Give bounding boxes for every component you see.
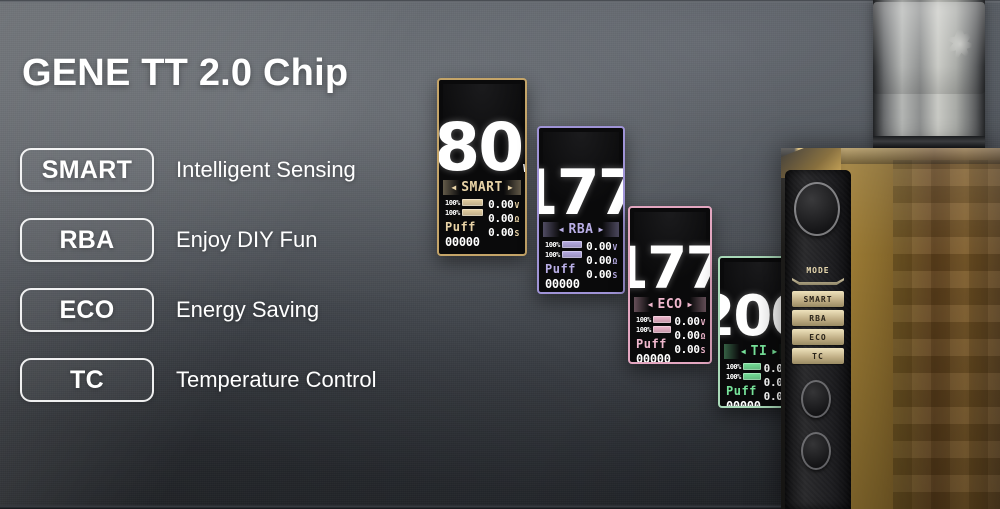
mode-label-bar: ◀SMART▶ xyxy=(443,180,521,195)
device-illustration: MODE SMARTRBAECOTC xyxy=(765,0,1000,509)
mode-label: SMART xyxy=(461,180,503,195)
primary-value: 177 xyxy=(628,244,712,294)
mode-menu-items: SMARTRBAECOTC xyxy=(792,288,844,364)
battery-bar xyxy=(653,316,672,323)
fire-button[interactable] xyxy=(794,182,840,236)
feature-list: SMARTIntelligent SensingRBAEnjoy DIY Fun… xyxy=(20,148,440,428)
puff-label: Puff xyxy=(545,262,582,276)
reading-line: 0.00S xyxy=(488,226,519,239)
reading-line: 0.00V xyxy=(488,198,519,211)
reading-value: 0.00 xyxy=(488,226,513,239)
screen-preview-rba: 177W◀RBA▶100%100%Puff000000.00V0.00Ω0.00… xyxy=(537,126,625,294)
readout-area: 100%100%Puff000000.00V0.00Ω0.00S xyxy=(443,197,521,249)
battery-bar xyxy=(743,363,761,370)
battery-percent: 100% xyxy=(726,373,741,381)
next-mode-arrow[interactable]: ▶ xyxy=(688,301,693,309)
reading-line: 0.00Ω xyxy=(674,329,705,342)
feature-description: Intelligent Sensing xyxy=(176,157,356,183)
reading-unit: S xyxy=(701,346,706,355)
mode-label: RBA xyxy=(569,222,594,237)
mode-menu-item-tc[interactable]: TC xyxy=(792,348,844,364)
primary-value-area: 80W xyxy=(443,84,521,177)
mode-menu-divider xyxy=(792,278,844,285)
battery-percent: 100% xyxy=(636,326,651,334)
primary-value: 177 xyxy=(537,166,625,219)
feature-row: ECOEnergy Saving xyxy=(20,288,440,332)
battery-percent: 100% xyxy=(445,209,460,217)
reading-unit: Ω xyxy=(514,215,519,224)
battery-bar xyxy=(462,209,484,216)
battery-row: 100% xyxy=(636,325,671,334)
feature-description: Temperature Control xyxy=(176,367,377,393)
next-mode-arrow[interactable]: ▶ xyxy=(599,226,604,234)
battery-percent: 100% xyxy=(545,241,560,249)
battery-bar xyxy=(562,241,583,248)
feature-description: Energy Saving xyxy=(176,297,319,323)
readout-area: 100%100%Puff000000.00V0.00Ω0.00S xyxy=(543,239,619,291)
reading-line: 0.00Ω xyxy=(488,212,519,225)
mode-menu-item-smart[interactable]: SMART xyxy=(792,291,844,307)
reading-unit: Ω xyxy=(612,257,617,266)
reading-line: 0.00V xyxy=(674,315,705,328)
battery-bar xyxy=(653,326,672,333)
reading-unit: Ω xyxy=(701,332,706,341)
battery-percent: 100% xyxy=(636,316,651,324)
battery-percent: 100% xyxy=(545,251,560,259)
reading-line: 0.00Ω xyxy=(586,254,617,267)
puff-count: 00000 xyxy=(636,352,671,364)
puff-count: 00000 xyxy=(445,235,483,249)
primary-value-area: 177W xyxy=(543,132,619,219)
primary-value-area: 177W xyxy=(634,212,706,294)
feature-row: TCTemperature Control xyxy=(20,358,440,402)
reading-unit: V xyxy=(514,201,519,210)
battery-percent: 100% xyxy=(726,363,741,371)
reading-value: 0.00 xyxy=(674,343,699,356)
puff-label: Puff xyxy=(726,384,761,398)
reading-unit: V xyxy=(612,243,617,252)
primary-unit: W xyxy=(523,163,527,174)
promo-banner: GENE TT 2.0 Chip SMARTIntelligent Sensin… xyxy=(0,0,1000,509)
device-front-panel: MODE SMARTRBAECOTC xyxy=(785,170,851,509)
prev-mode-arrow[interactable]: ◀ xyxy=(648,301,653,309)
mode-menu-title: MODE xyxy=(806,266,829,275)
battery-bar xyxy=(743,373,761,380)
next-mode-arrow[interactable]: ▶ xyxy=(508,184,513,192)
tank-base-ring xyxy=(873,136,985,148)
mode-menu-item-eco[interactable]: ECO xyxy=(792,329,844,345)
battery-row: 100% xyxy=(726,362,761,371)
reading-value: 0.00 xyxy=(586,254,611,267)
feature-row: SMARTIntelligent Sensing xyxy=(20,148,440,192)
feature-tag-eco: ECO xyxy=(20,288,154,332)
reading-value: 0.00 xyxy=(674,315,699,328)
battery-bar xyxy=(462,199,484,206)
reading-unit: S xyxy=(514,229,519,238)
feature-description: Enjoy DIY Fun xyxy=(176,227,317,253)
battery-row: 100% xyxy=(545,240,582,249)
prev-mode-arrow[interactable]: ◀ xyxy=(741,348,746,356)
reading-value: 0.00 xyxy=(674,329,699,342)
feature-tag-rba: RBA xyxy=(20,218,154,262)
primary-value: 80 xyxy=(437,120,522,177)
battery-percent: 100% xyxy=(445,199,460,207)
readout-area: 100%100%Puff000000.00V0.00Ω0.00S xyxy=(634,314,706,364)
puff-label: Puff xyxy=(636,337,671,351)
battery-row: 100% xyxy=(636,315,671,324)
puff-label: Puff xyxy=(445,220,483,234)
reading-line: 0.00S xyxy=(674,343,705,356)
tank-glass xyxy=(873,0,985,148)
battery-row: 100% xyxy=(445,208,483,217)
feature-tag-tc: TC xyxy=(20,358,154,402)
mode-label-bar: ◀RBA▶ xyxy=(543,222,619,237)
reading-unit: V xyxy=(701,318,706,327)
mode-menu-item-rba[interactable]: RBA xyxy=(792,310,844,326)
reading-value: 0.00 xyxy=(586,240,611,253)
reading-value: 0.00 xyxy=(488,212,513,225)
screen-preview-smart: 80W◀SMART▶100%100%Puff000000.00V0.00Ω0.0… xyxy=(437,78,527,256)
feature-tag-smart: SMART xyxy=(20,148,154,192)
puff-count: 00000 xyxy=(545,277,582,291)
mode-label-bar: ◀ECO▶ xyxy=(634,297,706,312)
feature-row: RBAEnjoy DIY Fun xyxy=(20,218,440,262)
adjust-down-button[interactable] xyxy=(801,432,831,470)
reading-unit: S xyxy=(612,271,617,280)
prev-mode-arrow[interactable]: ◀ xyxy=(559,226,564,234)
battery-row: 100% xyxy=(726,372,761,381)
adjust-up-button[interactable] xyxy=(801,380,831,418)
reading-line: 0.00S xyxy=(586,268,617,281)
mode-label: ECO xyxy=(658,297,683,312)
reading-value: 0.00 xyxy=(488,198,513,211)
battery-row: 100% xyxy=(445,198,483,207)
puff-count: 00000 xyxy=(726,399,761,408)
battery-row: 100% xyxy=(545,250,582,259)
prev-mode-arrow[interactable]: ◀ xyxy=(451,184,456,192)
device-mode-menu[interactable]: MODE SMARTRBAECOTC xyxy=(789,266,847,364)
screen-preview-eco: 177W◀ECO▶100%100%Puff000000.00V0.00Ω0.00… xyxy=(628,206,712,364)
battery-bar xyxy=(562,251,583,258)
page-title: GENE TT 2.0 Chip xyxy=(22,52,348,95)
reading-line: 0.00V xyxy=(586,240,617,253)
reading-value: 0.00 xyxy=(586,268,611,281)
